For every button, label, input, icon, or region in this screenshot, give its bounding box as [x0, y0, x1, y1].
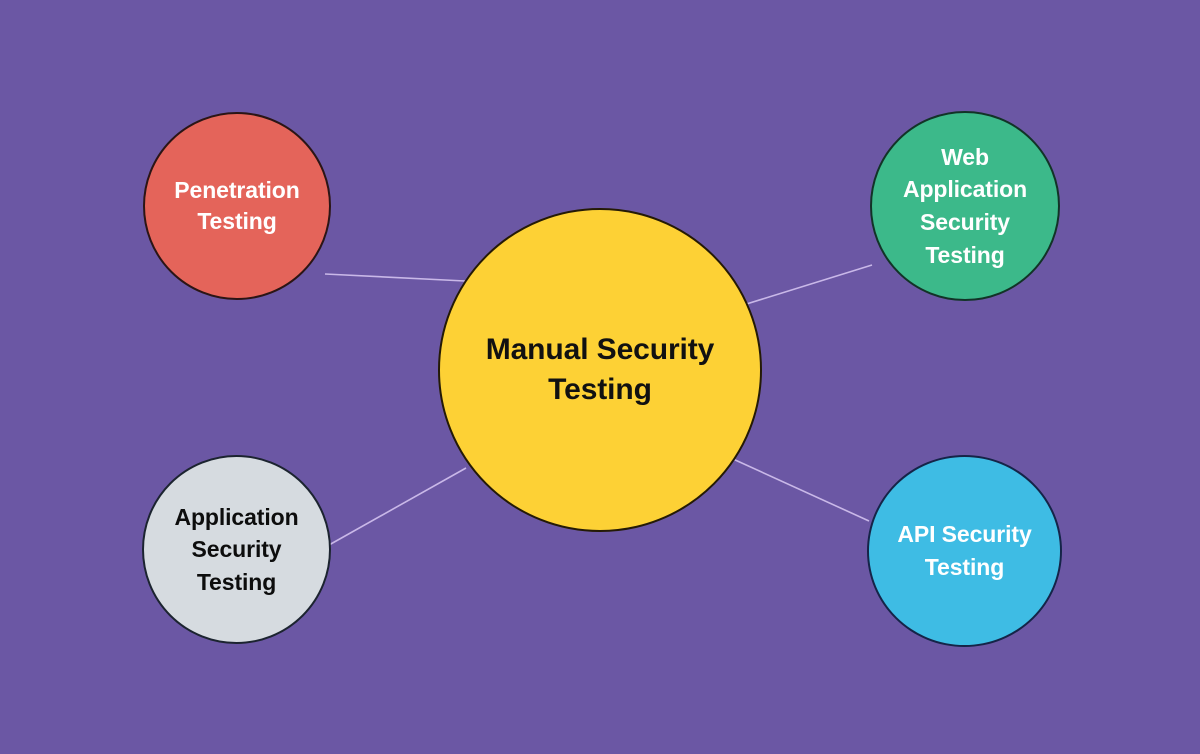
- node-manual-security-testing[interactable]: Manual Security Testing: [438, 208, 762, 532]
- node-web-application-security-testing[interactable]: Web Application Security Testing: [870, 111, 1060, 301]
- node-label-application-security-testing: Application Security Testing: [168, 501, 304, 599]
- connector-center-to-application-security-testing: [329, 468, 466, 545]
- connector-center-to-web-application-security-testing: [740, 265, 872, 306]
- node-penetration-testing[interactable]: Penetration Testing: [143, 112, 331, 300]
- node-label-center: Manual Security Testing: [480, 330, 721, 411]
- connector-center-to-penetration-testing: [325, 274, 465, 281]
- diagram-canvas: Manual Security Testing Penetration Test…: [0, 0, 1200, 754]
- node-label-api-security-testing: API Security Testing: [891, 518, 1037, 583]
- node-label-web-application-security-testing: Web Application Security Testing: [897, 141, 1033, 272]
- connector-center-to-api-security-testing: [733, 459, 869, 521]
- node-application-security-testing[interactable]: Application Security Testing: [142, 455, 331, 644]
- node-label-penetration-testing: Penetration Testing: [168, 175, 305, 237]
- node-api-security-testing[interactable]: API Security Testing: [867, 455, 1062, 647]
